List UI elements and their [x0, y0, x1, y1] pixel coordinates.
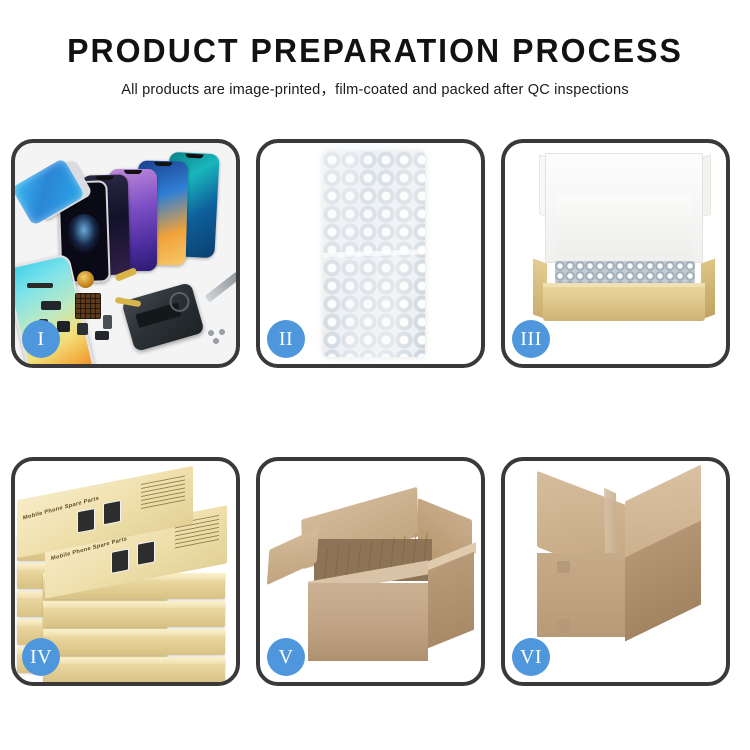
mailer-front-panel	[543, 287, 705, 321]
phone-back-housing-mainboard	[121, 282, 205, 352]
phone-notch-icon	[185, 154, 203, 159]
tweezers-tool-icon	[205, 272, 236, 303]
copper-coil-component	[77, 271, 94, 288]
connector-grid-chip	[75, 293, 101, 319]
phone-notch-icon	[154, 162, 172, 166]
small-component	[95, 331, 109, 340]
box-spec-lines	[141, 475, 185, 510]
step-badge-5: V	[267, 638, 305, 676]
page-header: PRODUCT PREPARATION PROCESS All products…	[0, 0, 750, 99]
carton-front-panel	[308, 583, 428, 661]
step-badge-4: IV	[22, 638, 60, 676]
phone-artwork-icon	[111, 548, 129, 573]
process-step-panel-3[interactable]: III	[501, 139, 730, 368]
retail-box	[43, 629, 225, 655]
carton-seam-mark	[557, 561, 570, 573]
mailer-inner-wall	[557, 195, 691, 257]
process-step-panel-2[interactable]: II	[256, 139, 485, 368]
box-lip	[43, 629, 225, 636]
carton-seam-mark	[557, 619, 570, 633]
box-lip	[43, 657, 225, 664]
phone-artwork-icon	[137, 540, 155, 565]
box-lip	[43, 601, 225, 608]
process-step-panel-6[interactable]: VI	[501, 457, 730, 686]
process-step-panel-4[interactable]: Mobile Phone Spare Parts Mobile Phone Sp…	[11, 457, 240, 686]
step-badge-6: VI	[512, 638, 550, 676]
step-badge-3: III	[512, 320, 550, 358]
process-step-panel-5[interactable]: V	[256, 457, 485, 686]
small-component	[57, 321, 70, 332]
retail-box	[43, 601, 225, 627]
screws-component	[207, 329, 229, 345]
process-steps-grid: I II III	[11, 139, 739, 686]
phone-artwork-icon	[103, 500, 121, 525]
carton-side-panel	[428, 552, 474, 649]
carton-front-face	[537, 553, 625, 637]
step-badge-1: I	[22, 320, 60, 358]
small-component	[41, 301, 61, 310]
black-strip-component	[27, 283, 53, 288]
page-title: PRODUCT PREPARATION PROCESS	[11, 34, 739, 67]
small-component	[103, 315, 112, 329]
page-subtitle: All products are image-printed，film-coat…	[0, 78, 750, 99]
phone-artwork-icon	[77, 508, 95, 533]
carton-flap-left	[267, 527, 319, 585]
phone-notch-icon	[124, 170, 142, 174]
process-step-panel-1[interactable]: I	[11, 139, 240, 368]
small-component	[77, 323, 88, 335]
retail-box	[43, 657, 225, 682]
step-badge-2: II	[267, 320, 305, 358]
